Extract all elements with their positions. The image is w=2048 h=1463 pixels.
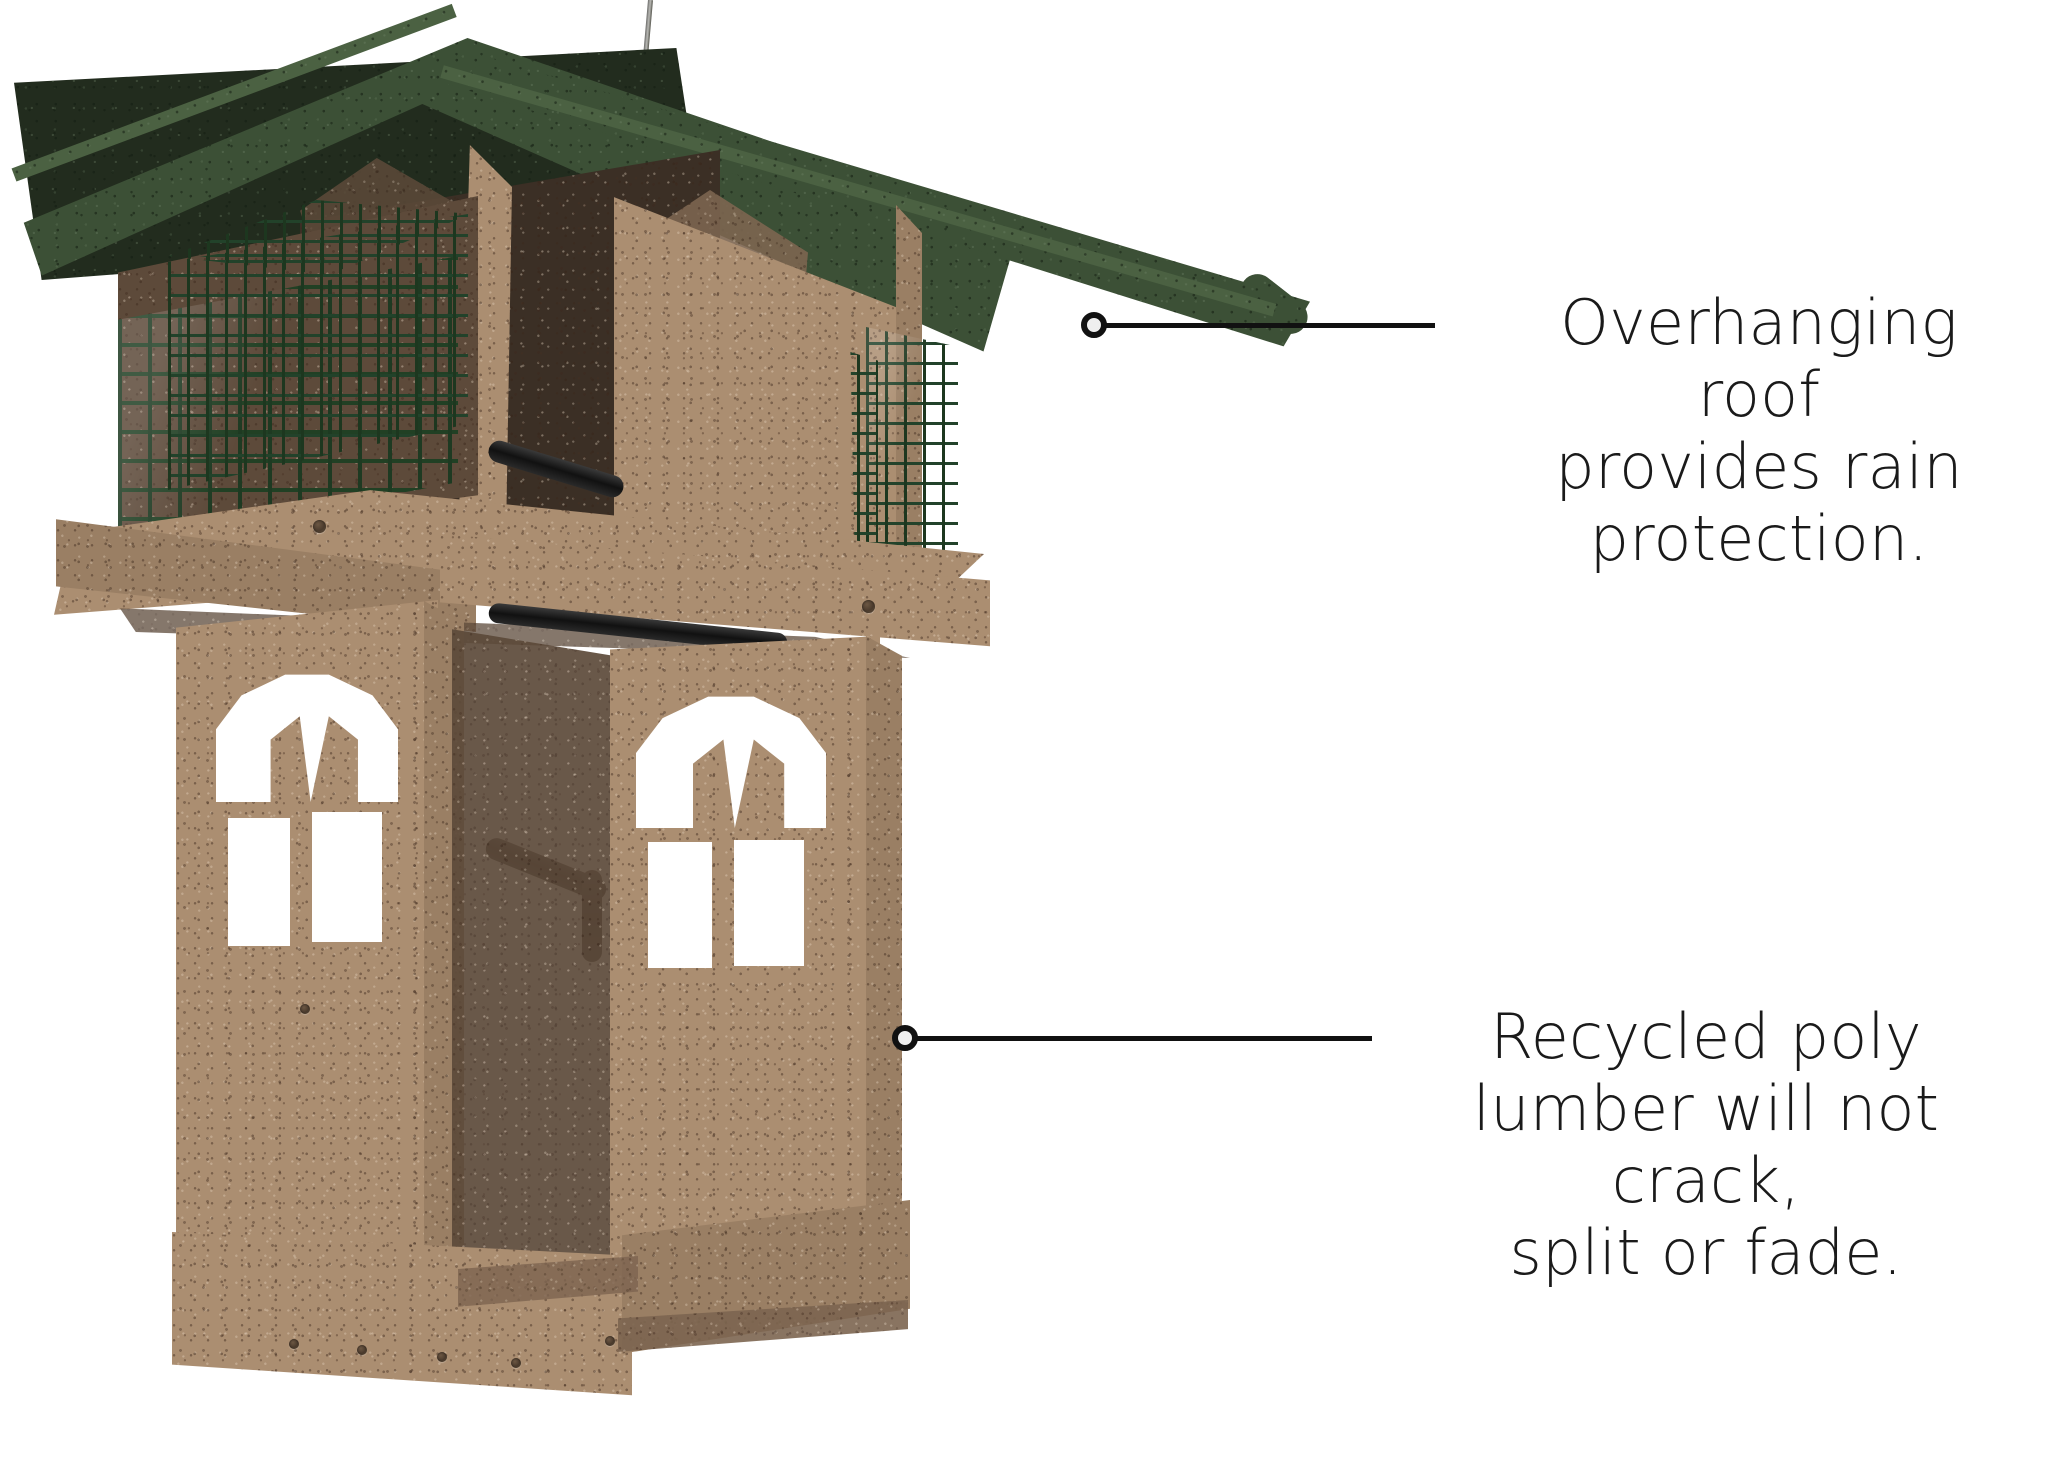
callout-poly-marker [892,1025,918,1051]
callout-poly-line-1: Recycled poly [1386,1001,2026,1073]
bottom-tray-front [172,1232,632,1402]
callout-roof-line-1: Overhanging roof [1494,287,2024,431]
callout-poly-line-2: lumber will not crack, [1386,1073,2026,1217]
screw-platform-1 [313,520,326,533]
screw-tray-4 [511,1358,521,1368]
callout-poly-line-3: split or fade. [1386,1217,2026,1289]
callout-roof-text: Overhanging roof provides rain protectio… [1494,287,2024,575]
suet-cage-right [866,322,958,570]
lower-left-window-b [312,812,382,942]
screw-lower-left [300,1004,310,1014]
callout-roof-leader [1105,323,1435,328]
suet-cage-right-sheen [866,322,958,570]
lower-right-window-a [648,842,712,968]
callout-poly-leader [916,1036,1372,1041]
lower-right-return [866,636,902,1300]
lower-left-window-a [228,818,290,946]
screw-tray-1 [289,1339,299,1349]
lower-right-window-b [734,840,804,966]
image-canvas: Overhanging roof provides rain protectio… [0,0,2048,1463]
screw-platform-2 [862,600,875,613]
screw-tray-2 [357,1345,367,1355]
product-photo [0,0,1180,1463]
callout-roof-line-2: provides rain [1494,431,2024,503]
callout-poly-text: Recycled poly lumber will not crack, spl… [1386,1001,2026,1289]
callout-roof-marker [1081,312,1107,338]
screw-tray-3 [437,1352,447,1362]
screw-tray-5 [605,1336,615,1346]
callout-roof-line-3: protection. [1494,503,2024,575]
